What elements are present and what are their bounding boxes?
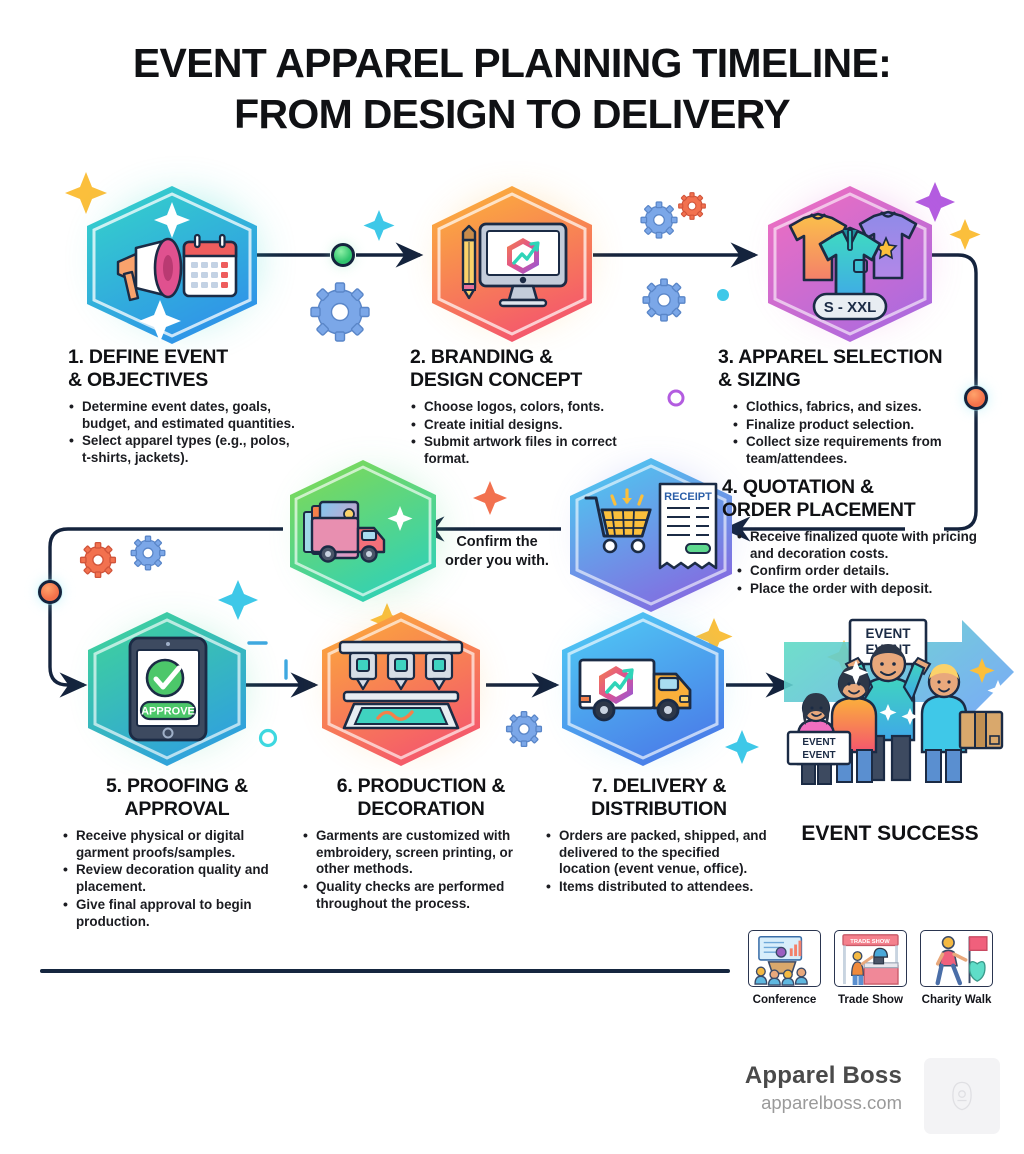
bullet: Quality checks are performed throughout … — [302, 879, 540, 913]
gear-icon — [131, 536, 165, 570]
step-6-bullets: Garments are customized with embroidery,… — [302, 828, 540, 913]
step-4: 4. QUOTATION & ORDER PLACEMENT Receive f… — [722, 476, 977, 599]
bullet: Orders are packed, shipped, and delivere… — [545, 828, 773, 879]
brand-logo — [924, 1058, 1000, 1134]
step-7-title: 7. DELIVERY & DISTRIBUTION — [545, 775, 773, 821]
hex-step-5[interactable]: APPROVE — [86, 610, 248, 768]
bullet: Finalize product selection. — [732, 417, 976, 434]
bullet: Give final approval to begin production. — [62, 897, 292, 931]
title-line-2: From Design to Delivery — [0, 89, 1024, 140]
event-type-label: Trade Show — [834, 993, 907, 1006]
step-5-bullets: Receive physical or digital garment proo… — [62, 828, 292, 931]
pencil-icon — [463, 226, 475, 298]
brand-block: Apparel Boss apparelboss.com — [745, 1062, 902, 1114]
event-types-list: Conference TRADE SHOW — [748, 930, 993, 1006]
charity-walk-icon — [920, 930, 993, 987]
step-2-bullets: Choose logos, colors, fonts. Create init… — [410, 399, 660, 469]
step-6-title: 6. PRODUCTION & DECORATION — [302, 775, 540, 821]
step-2: 2. BRANDING & DESIGN CONCEPT Choose logo… — [410, 346, 660, 469]
svg-text:EVENT: EVENT — [865, 626, 911, 641]
bullet: Review decoration quality and placement. — [62, 862, 292, 896]
hex-artwork-truck[interactable] — [288, 458, 438, 604]
conference-icon — [748, 930, 821, 987]
gear-icon — [311, 283, 369, 341]
hex-step-4[interactable]: RECEIPT — [568, 456, 734, 614]
step-7-bullets: Orders are packed, shipped, and delivere… — [545, 828, 773, 897]
bullet: Receive physical or digital garment proo… — [62, 828, 292, 862]
event-type-trade-show[interactable]: TRADE SHOW Trade Show — [834, 930, 907, 1006]
step-1-title: 1. DEFINE EVENT & OBJECTIVES — [68, 346, 298, 392]
calendar-icon — [184, 235, 236, 296]
bullet: Confirm order details. — [736, 563, 977, 580]
confirm-order-caption: Confirm the order you with. — [412, 533, 582, 571]
brand-name: Apparel Boss — [745, 1062, 902, 1090]
event-success-scene: EVENT EVENT — [770, 612, 1020, 792]
bullet: Items distributed to attendees. — [545, 879, 773, 896]
step-4-title: 4. QUOTATION & ORDER PLACEMENT — [722, 476, 977, 522]
hex-step-7[interactable] — [560, 610, 726, 768]
gear-icon — [507, 712, 542, 747]
event-type-charity-walk[interactable]: Charity Walk — [920, 930, 993, 1006]
page-title: Event Apparel Planning Timeline: From De… — [0, 38, 1024, 140]
title-line-1: Event Apparel Planning Timeline: — [133, 40, 891, 86]
step-4-bullets: Receive finalized quote with pricing and… — [722, 529, 977, 599]
gear-icon — [679, 193, 706, 220]
step-1-bullets: Determine event dates, goals, budget, an… — [68, 399, 298, 468]
step-6: 6. PRODUCTION & DECORATION Garments are … — [302, 775, 540, 914]
event-success-label: Event Success — [775, 822, 1005, 846]
svg-text:EVENT: EVENT — [802, 737, 835, 748]
brand-url[interactable]: apparelboss.com — [745, 1092, 902, 1114]
step-3: 3. APPAREL SELECTION & SIZING Clothics, … — [718, 346, 976, 469]
hex-step-3[interactable]: S - XXL — [766, 184, 934, 344]
svg-text:EVENT: EVENT — [802, 750, 835, 761]
hex-step-1[interactable] — [84, 184, 260, 346]
bullet: Garments are customized with embroidery,… — [302, 828, 540, 879]
step-3-title: 3. APPAREL SELECTION & SIZING — [718, 346, 976, 392]
package-box-icon — [960, 712, 1002, 748]
step-5-title: 5. PROOFING & APPROVAL — [62, 775, 292, 821]
trade-show-banner: TRADE SHOW — [850, 939, 890, 945]
sizing-badge: S - XXL — [814, 294, 886, 319]
tablet-approve-icon: APPROVE — [130, 638, 206, 740]
hex-step-6[interactable] — [320, 610, 482, 768]
event-type-conference[interactable]: Conference — [748, 930, 821, 1006]
bullet: Determine event dates, goals, budget, an… — [68, 399, 298, 433]
bullet: Receive finalized quote with pricing and… — [736, 529, 977, 563]
gear-icon — [81, 543, 116, 578]
bullet: Choose logos, colors, fonts. — [410, 399, 660, 416]
receipt-icon: RECEIPT — [660, 484, 716, 568]
bullet: Create initial designs. — [410, 417, 660, 434]
bullet: Collect size requirements from team/atte… — [732, 434, 976, 468]
sizing-badge-text: S - XXL — [824, 299, 877, 316]
event-type-label: Charity Walk — [920, 993, 993, 1006]
step-1: 1. DEFINE EVENT & OBJECTIVES Determine e… — [68, 346, 298, 468]
infographic-canvas: Event Apparel Planning Timeline: From De… — [0, 0, 1024, 1154]
receipt-label: RECEIPT — [664, 491, 712, 503]
step-2-title: 2. BRANDING & DESIGN CONCEPT — [410, 346, 660, 392]
bullet: Select apparel types (e.g., polos, t-shi… — [68, 433, 298, 467]
approve-badge-text: APPROVE — [141, 706, 195, 718]
step-5: 5. PROOFING & APPROVAL Receive physical … — [62, 775, 292, 932]
footer-divider — [40, 969, 730, 973]
hex-step-2[interactable] — [430, 184, 595, 344]
trade-show-icon: TRADE SHOW — [834, 930, 907, 987]
gear-icon — [641, 202, 677, 238]
bullet: Submit artwork files in correct format. — [410, 434, 660, 468]
bullet: Clothics, fabrics, and sizes. — [732, 399, 976, 416]
event-sign-small: EVENT EVENT — [788, 732, 850, 764]
bullet: Place the order with deposit. — [736, 581, 977, 598]
step-7: 7. DELIVERY & DISTRIBUTION Orders are pa… — [545, 775, 773, 897]
event-type-label: Conference — [748, 993, 821, 1006]
step-3-bullets: Clothics, fabrics, and sizes. Finalize p… — [718, 399, 976, 469]
gear-icon — [643, 279, 685, 321]
